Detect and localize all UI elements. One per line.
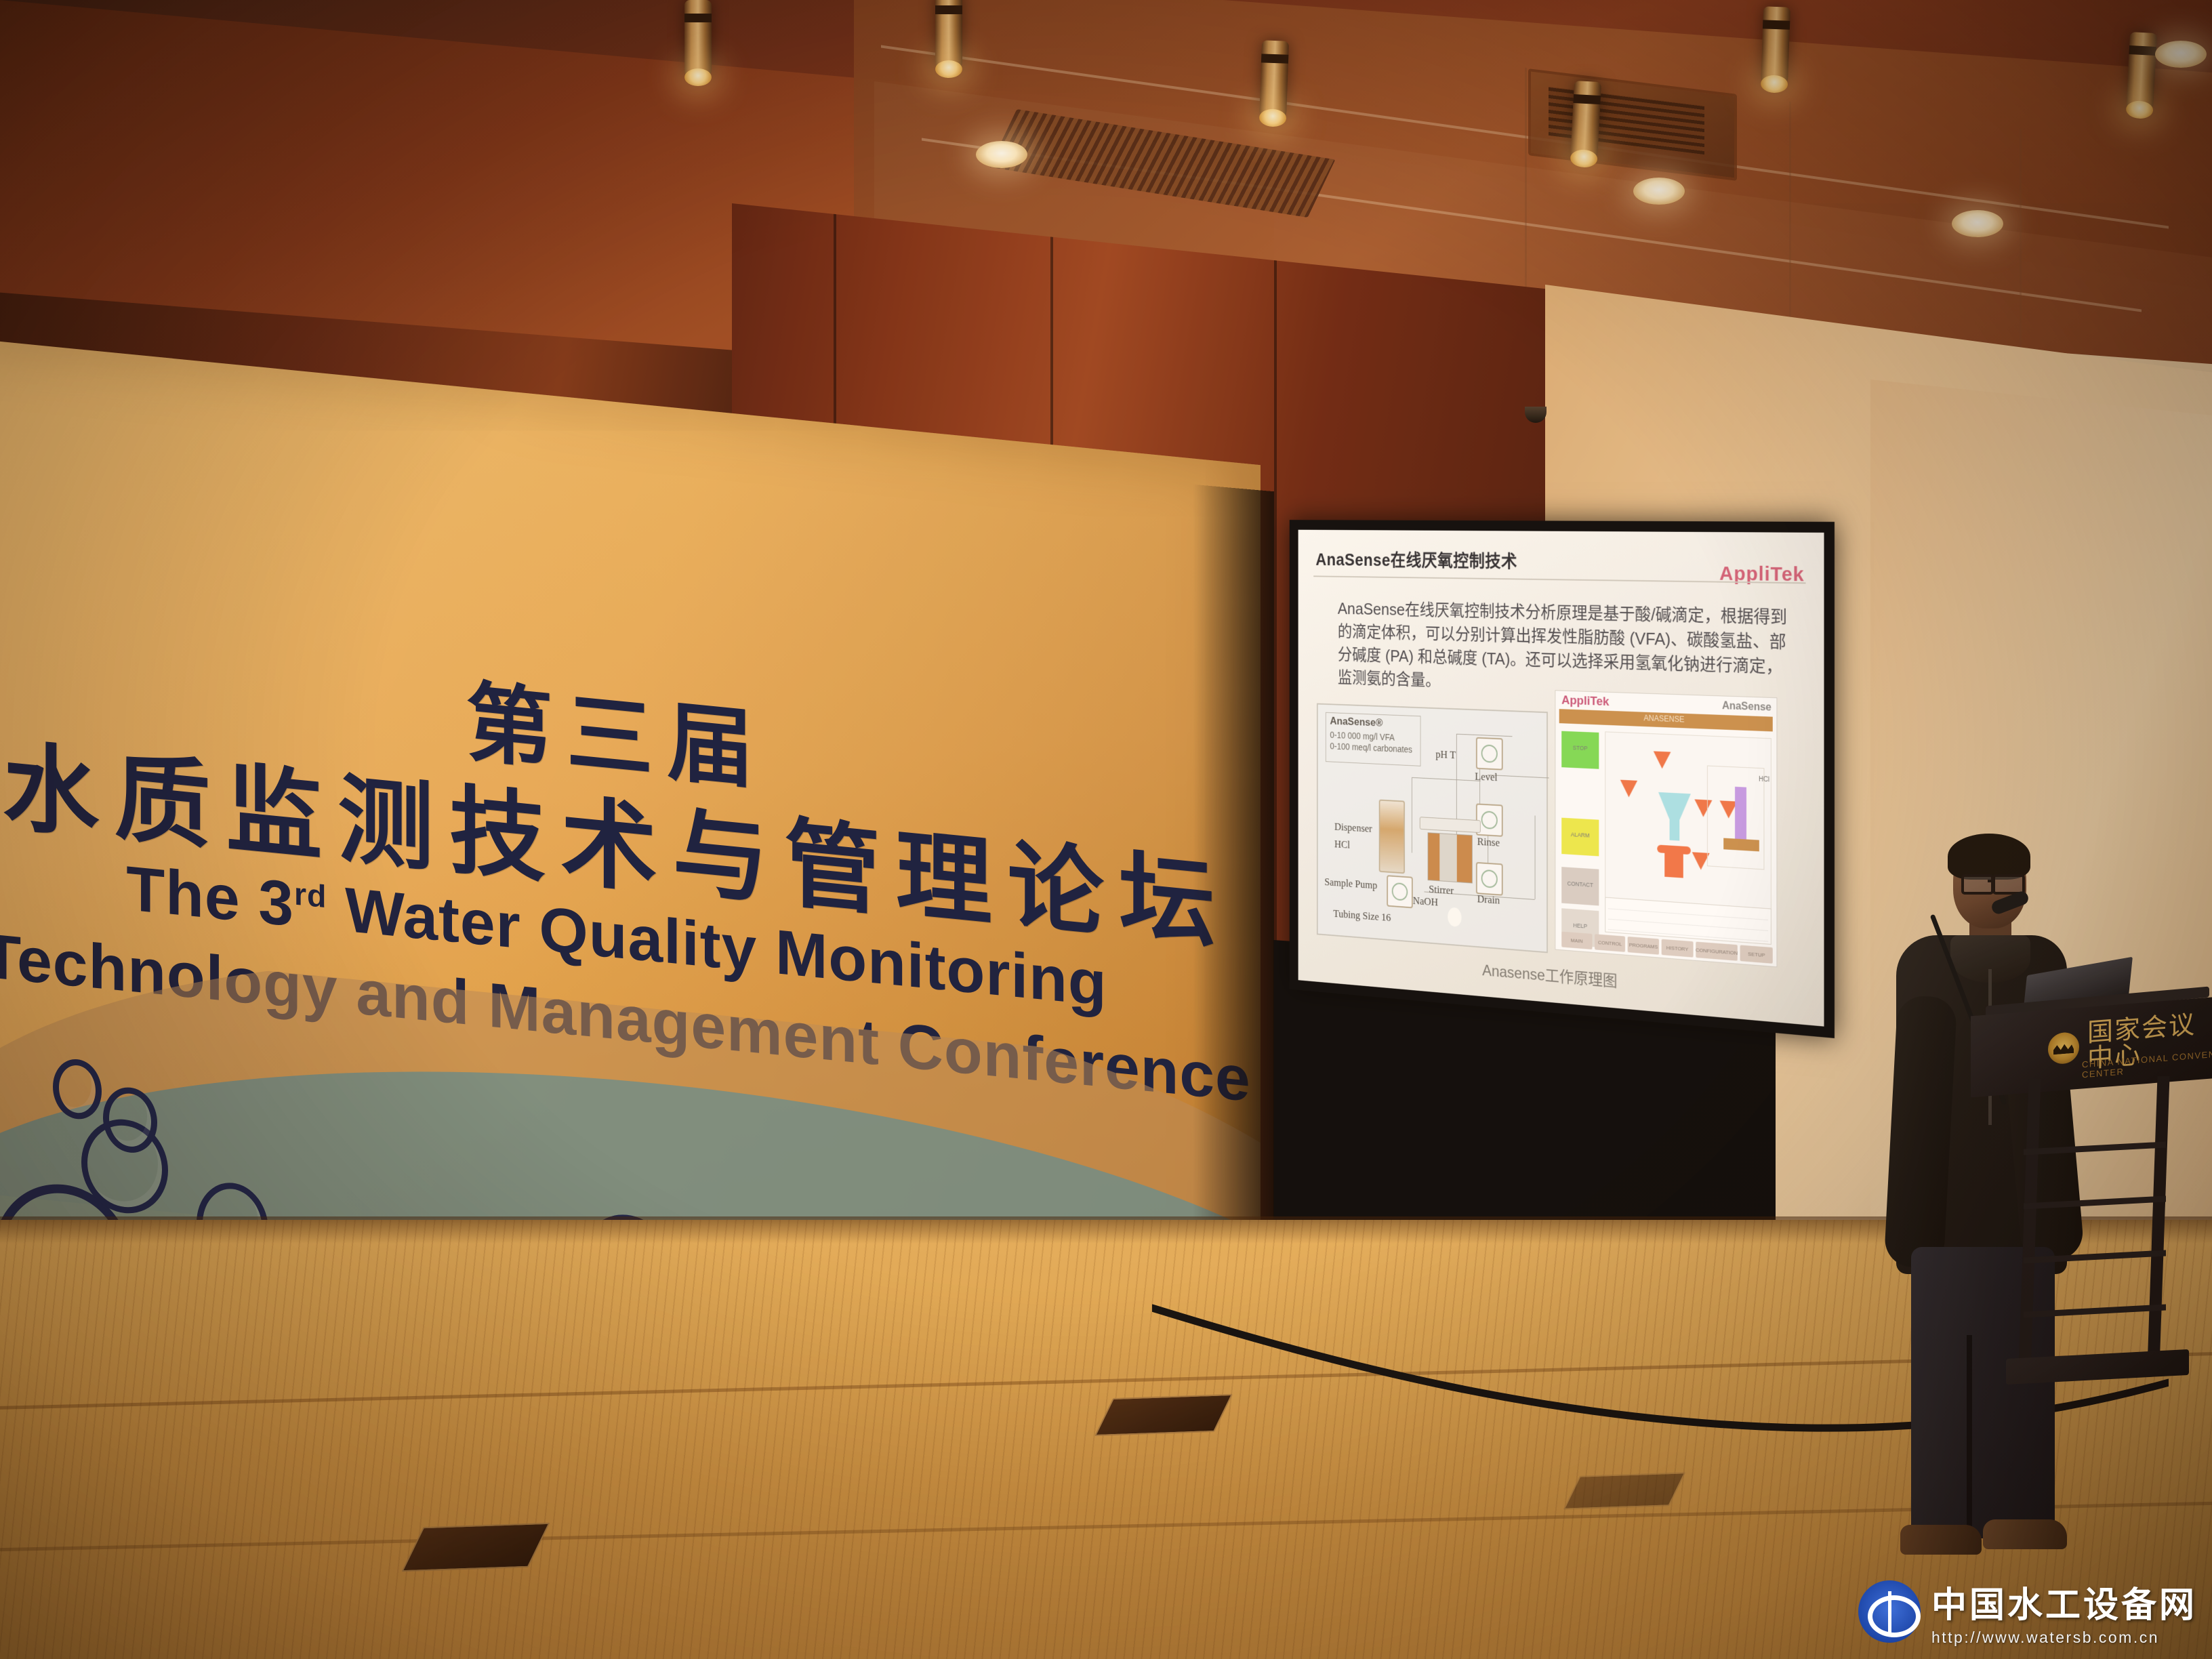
hmi-tab-configuration[interactable]: CONFIGURATION (1696, 942, 1738, 961)
presenter-shoe-left (1900, 1525, 1982, 1555)
diagram-label-tubing: Tubing Size 16 (1333, 907, 1391, 924)
ceiling-spotlight-5 (2126, 32, 2157, 113)
hmi-calib-button[interactable] (1723, 838, 1759, 852)
hmi-stop-label: STOP (1561, 744, 1599, 752)
hmi-applitek-logo: AppliTek (1561, 693, 1609, 710)
floor-access-port-1 (401, 1523, 550, 1572)
hmi-tab-setup[interactable]: SETUP (1740, 945, 1773, 963)
hmi-tab-control[interactable]: CONTROL (1595, 934, 1626, 952)
presenter-glasses-left-lens (1961, 874, 1994, 895)
diagram-product-name: AnaSense® (1330, 715, 1382, 730)
diagram-sample-pump (1387, 875, 1412, 908)
floor-access-port-2 (1094, 1394, 1233, 1436)
ceiling-downlight-2 (1633, 178, 1685, 205)
diagram-label-level: Level (1475, 770, 1497, 783)
hmi-tab-history[interactable]: HISTORY (1662, 939, 1694, 958)
hmi-funnel (1658, 792, 1691, 820)
applitek-hmi-screenshot: AppliTek AnaSense ANASENSE STOP ALARM CO… (1555, 690, 1777, 967)
ceiling-spotlight-3 (1570, 81, 1601, 162)
hmi-process-canvas: HCl (1605, 731, 1771, 916)
lectern-rung-2 (2024, 1195, 2166, 1209)
lectern-base (2006, 1349, 2189, 1385)
diagram-pump-drain (1476, 862, 1503, 896)
screen-side-shadow (1193, 485, 1274, 1305)
lectern-rung-4 (2024, 1304, 2166, 1317)
projection-screen: AnaSense在线厌氧控制技术 AppliTek AnaSense在线厌氧控制… (1290, 520, 1835, 1038)
diagram-label-hcl: HCl (1334, 838, 1350, 852)
hmi-tab-programs[interactable]: PROGRAMS (1628, 937, 1659, 955)
ceiling-spotlight-1 (935, 0, 962, 72)
ceiling-downlight-4 (2155, 41, 2207, 68)
presenter-hair (1948, 834, 2030, 880)
presenter-shoe-right (1983, 1519, 2067, 1549)
anasense-process-diagram: AnaSense® 0-10 000 mg/l VFA 0-100 meq/l … (1317, 703, 1548, 954)
banner-en-ordinal: rd (294, 876, 327, 914)
slide-body-text: AnaSense在线厌氧控制技术分析原理是基于酸/碱滴定，根据得到的滴定体积，可… (1338, 597, 1797, 705)
lectern-leg-right (2147, 1076, 2169, 1368)
hmi-valve-left[interactable] (1620, 780, 1637, 798)
site-watermark: 中国水工设备网 http://www.watersb.com.cn (1858, 1576, 2197, 1647)
diagram-label-naoh: NaOH (1413, 895, 1438, 909)
lectern: 国家会议中心 CHINA NATIONAL CONVENTION CENTER (1959, 989, 2212, 1396)
watermark-site-url: http://www.watersb.com.cn (1931, 1629, 2197, 1647)
lectern-leg-left (2018, 1079, 2041, 1370)
projected-slide: AnaSense在线厌氧控制技术 AppliTek AnaSense在线厌氧控制… (1298, 530, 1824, 1027)
ceiling-spotlight-4 (1761, 6, 1790, 87)
ceiling-downlight-1 (976, 141, 1027, 168)
diagram-pump-level (1476, 737, 1503, 771)
watermark-site-name: 中国水工设备网 (1931, 1576, 2197, 1627)
ceiling-spotlight-2 (1259, 40, 1289, 121)
stage-front-edge (0, 1216, 2212, 1244)
diagram-reaction-vessel (1428, 832, 1473, 883)
hmi-alarm-label: ALARM (1561, 831, 1599, 840)
ceiling-spotlight-6 (684, 0, 712, 80)
diagram-label-stirrer: Stirrer (1429, 883, 1454, 897)
hmi-funnel-tube (1670, 818, 1680, 841)
watermark-logo-icon (1858, 1580, 1921, 1643)
hmi-stirrer (1664, 851, 1683, 878)
floor-access-port-3 (1563, 1472, 1685, 1509)
watermark-text-block: 中国水工设备网 http://www.watersb.com.cn (1931, 1576, 2197, 1647)
diagram-vessel-cap (1420, 817, 1481, 833)
hmi-alarm-button[interactable]: ALARM (1561, 818, 1599, 857)
hmi-contact-label: CONTACT (1561, 880, 1599, 888)
diagram-label-ph-t: pH T (1435, 748, 1456, 762)
hmi-stop-button[interactable]: STOP (1561, 731, 1599, 769)
hmi-anasense-logo: AnaSense (1722, 700, 1771, 714)
hmi-help-label: HELP (1561, 921, 1599, 930)
slide-title: AnaSense在线厌氧控制技术 (1315, 546, 1517, 573)
ceiling-downlight-3 (1952, 210, 2003, 237)
presenter-glasses-bridge (1988, 880, 1994, 882)
diagram-label-sample-pump: Sample Pump (1324, 876, 1377, 892)
diagram-label-dispenser: Dispenser (1334, 821, 1372, 836)
lectern-rung-3 (2024, 1250, 2166, 1263)
banner-en-pre: The 3 (126, 853, 294, 939)
conference-photo-scene: 第三届 水质监测技术与管理论坛 The 3rd Water Quality Mo… (0, 0, 2212, 1659)
venue-emblem-icon (2048, 1031, 2079, 1065)
hmi-tab-main[interactable]: MAIN (1561, 932, 1592, 949)
lectern-rung-1 (2024, 1141, 2166, 1155)
hmi-valve-top[interactable] (1654, 751, 1671, 769)
diagram-dispenser (1379, 800, 1405, 874)
hmi-contact-button[interactable]: CONTACT (1561, 867, 1599, 905)
hmi-hcl-label: HCl (1759, 776, 1769, 784)
diagram-label-rinse: Rinse (1477, 836, 1500, 850)
